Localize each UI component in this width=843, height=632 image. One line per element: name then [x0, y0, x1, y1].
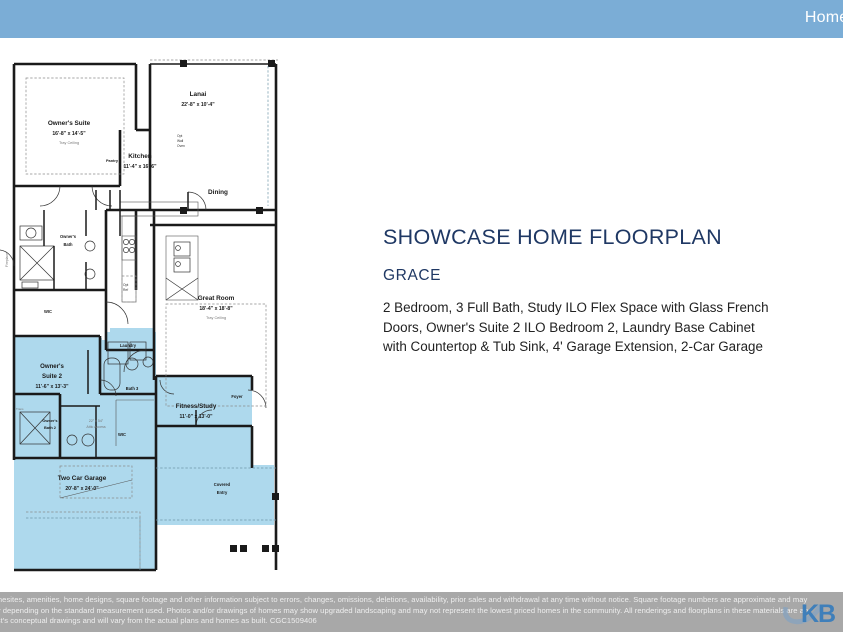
label-opt-ref-2: Ref — [123, 288, 128, 292]
label-fitness-study-dim: 11'-0" x 13'-0" — [179, 414, 213, 420]
label-attic-access-1: 22" x 54" — [89, 419, 104, 423]
header-title: Homesit — [805, 9, 843, 27]
floorplan-drawing: Owner's Suite 16'-8" x 14'-5" Tray Ceili… — [0, 50, 310, 590]
label-owners-suite-dim: 16'-8" x 14'-5" — [52, 131, 86, 137]
page-header-bar: Homesit — [0, 0, 843, 38]
label-lanai: Lanai — [190, 91, 207, 98]
label-opt-wall-oven-2: Wall — [177, 139, 184, 143]
label-two-car-garage-dim: 20'-8" x 24'-0" — [65, 486, 99, 492]
label-laundry: Laundry — [120, 343, 137, 348]
plan-name: GRACE — [383, 267, 793, 285]
label-great-room-sub: Tray Ceiling — [206, 316, 226, 320]
disclaimer-text: Homesites, amenities, home designs, squa… — [0, 595, 821, 627]
label-attic-access-2: Attic Access — [86, 425, 106, 429]
label-covered-entry-2: Entry — [217, 490, 228, 495]
label-pantry: Pantry — [106, 158, 119, 163]
label-owners-bath-2-1: Owner's — [42, 418, 57, 423]
label-kitchen: Kitchen — [128, 153, 152, 160]
label-covered-entry-1: Covered — [214, 482, 231, 487]
label-kitchen-dim: 11'-4" x 16'-6" — [123, 164, 157, 170]
plan-description: 2 Bedroom, 3 Full Bath, Study ILO Flex S… — [383, 298, 781, 357]
kb-home-logo: KB — [801, 599, 843, 629]
label-great-room-dim: 18'-4" x 18'-8" — [199, 306, 233, 312]
floorplan-info-panel: SHOWCASE HOME FLOORPLAN GRACE 2 Bedroom,… — [383, 225, 793, 357]
label-two-car-garage: Two Car Garage — [58, 475, 107, 482]
label-owners-bath-2: Bath — [63, 242, 73, 247]
label-owners-suite-2-dim: 11'-6" x 13'-3" — [35, 384, 69, 390]
footer-disclaimer-bar: Homesites, amenities, home designs, squa… — [0, 592, 843, 632]
label-owners-bath-2-2: Bath 2 — [44, 425, 57, 430]
label-lanai-dim: 22'-8" x 10'-4" — [181, 102, 215, 108]
page-title: SHOWCASE HOME FLOORPLAN — [383, 225, 793, 250]
label-opt-ref-1: Opt — [123, 283, 128, 287]
label-owners-suite-sub: Tray Ceiling — [59, 141, 79, 145]
label-opt-wall-oven-3: Oven — [177, 144, 185, 148]
label-bath-3: Bath 3 — [126, 386, 139, 391]
label-owners-suite-2-2: Suite 2 — [42, 373, 63, 380]
label-fitness-study: Fitness/Study — [176, 403, 217, 410]
label-trans: Trans — [16, 407, 24, 411]
label-owners-bath-1: Owner's — [60, 234, 77, 239]
label-dining: Dining — [208, 189, 228, 196]
label-owners-suite: Owner's Suite — [48, 120, 91, 127]
label-great-room: Great Room — [198, 295, 235, 302]
label-opt-wall-oven-1: Opt — [177, 134, 182, 138]
label-wic-2: WIC — [118, 432, 126, 437]
label-foyer: Foyer — [231, 394, 243, 399]
label-fireplace: Fireplace — [5, 253, 9, 267]
label-wic: WIC — [44, 309, 52, 314]
label-owners-suite-2-1: Owner's — [40, 363, 64, 370]
